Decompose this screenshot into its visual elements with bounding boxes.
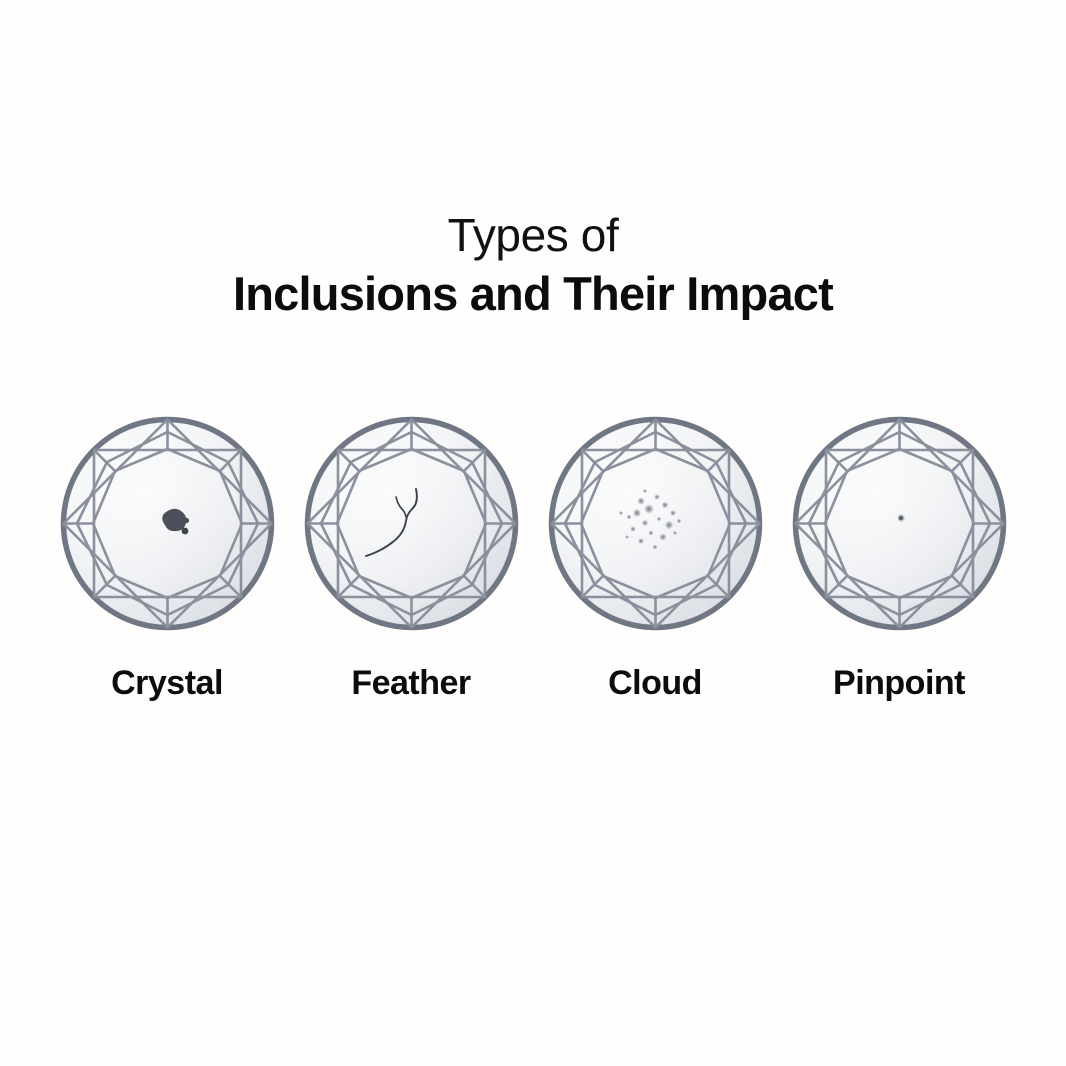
pinpoint-inclusion-mark: [896, 514, 905, 523]
inclusion-label-pinpoint: Pinpoint: [833, 664, 965, 703]
diamond-crystal-icon: [57, 413, 278, 634]
title-line-1: Types of: [0, 212, 1066, 258]
title-line-2: Inclusions and Their Impact: [0, 270, 1066, 317]
inclusion-card-pinpoint[interactable]: Pinpoint: [789, 413, 1010, 703]
infographic-canvas: Types of Inclusions and Their Impact: [0, 0, 1066, 1066]
inclusion-card-crystal[interactable]: Crystal: [57, 413, 278, 703]
gem-body: [795, 420, 1003, 628]
gem-body: [551, 420, 759, 628]
inclusion-label-cloud: Cloud: [608, 664, 702, 703]
inclusion-card-feather[interactable]: Feather: [301, 413, 522, 703]
gem-body: [307, 420, 515, 628]
diamond-feather-icon: [301, 413, 522, 634]
diamond-pinpoint-icon: [789, 413, 1010, 634]
inclusion-label-feather: Feather: [351, 664, 470, 703]
inclusion-card-cloud[interactable]: Cloud: [545, 413, 766, 703]
page-title: Types of Inclusions and Their Impact: [0, 212, 1066, 317]
inclusion-label-crystal: Crystal: [111, 664, 223, 703]
diamond-cloud-icon: [545, 413, 766, 634]
inclusion-gem-row: Crystal: [0, 413, 1066, 703]
